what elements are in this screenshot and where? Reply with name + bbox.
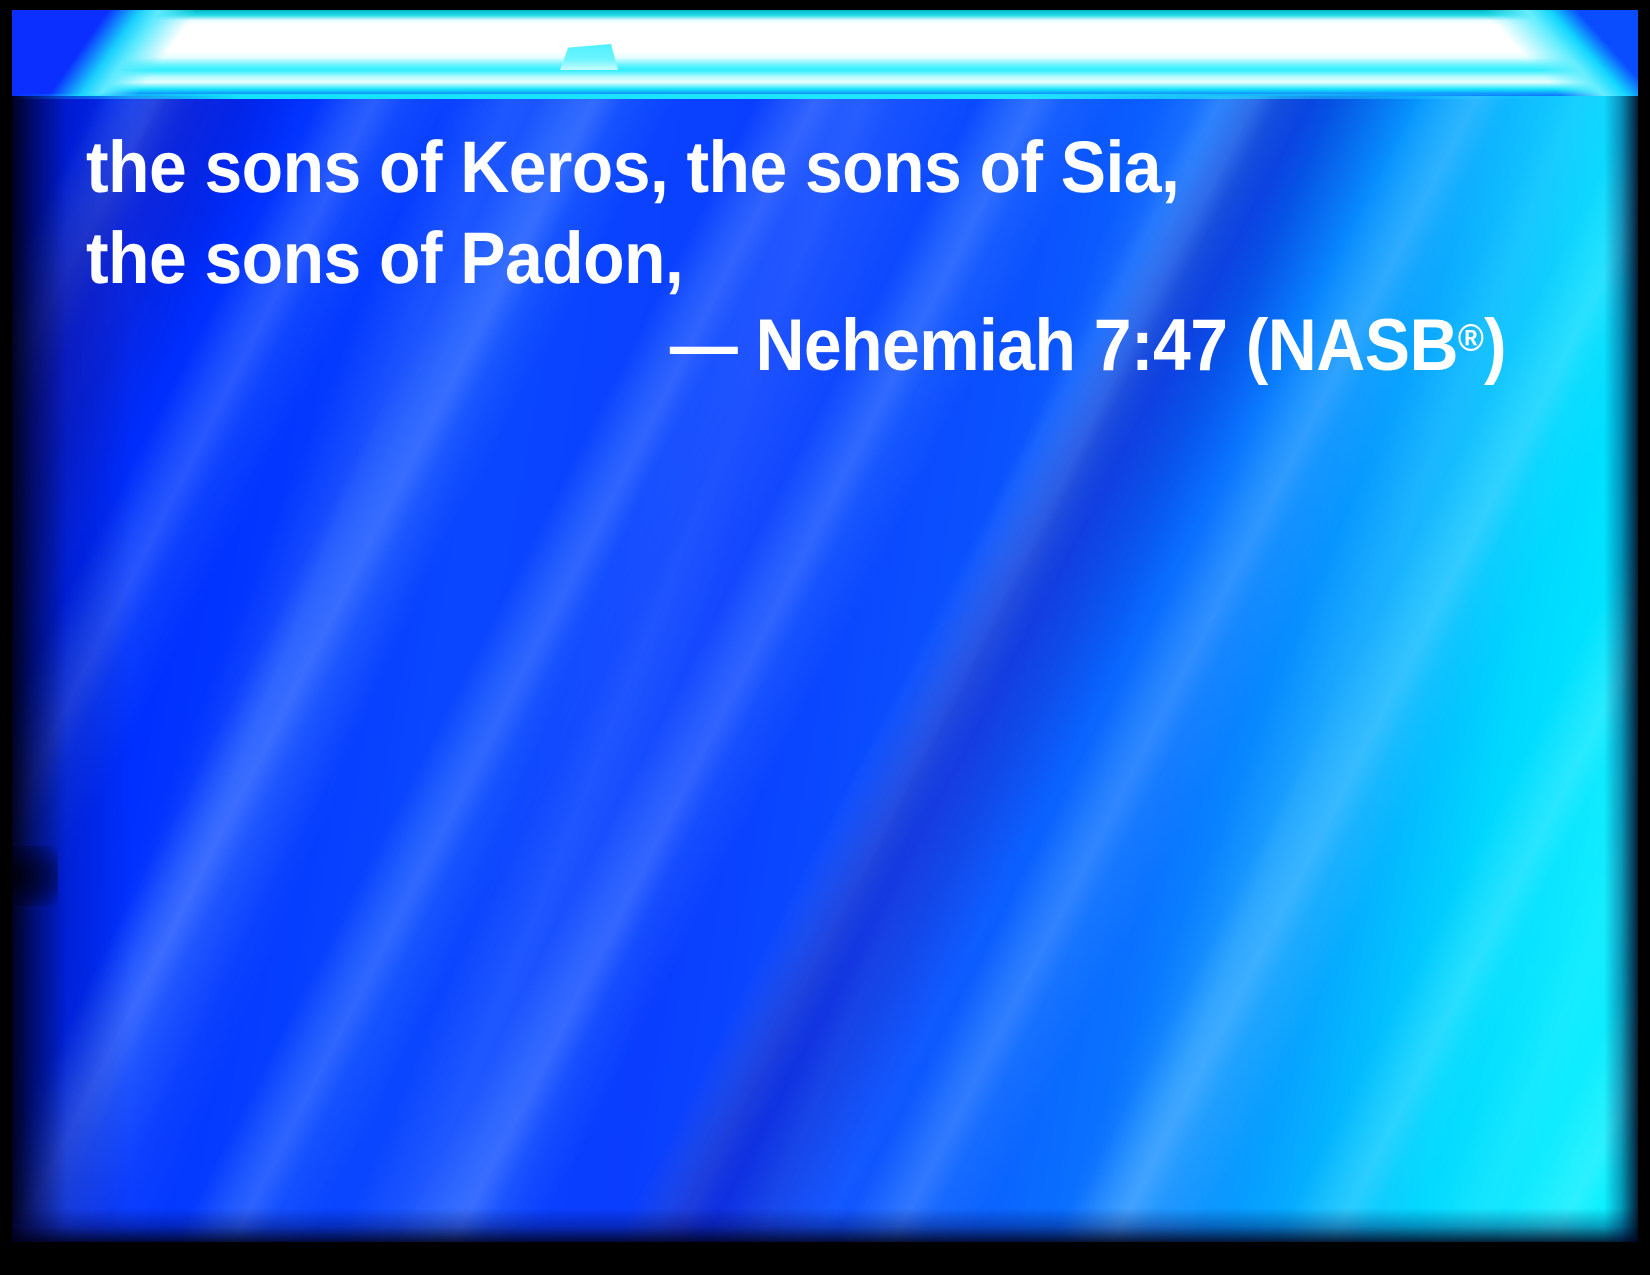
attribution-translation-close: ) — [1484, 305, 1506, 386]
attribution-book: Nehemiah — [755, 305, 1075, 386]
registered-trademark-icon: ® — [1458, 317, 1484, 359]
attribution-spacer2 — [1075, 305, 1093, 386]
attribution-spacer1 — [737, 305, 755, 386]
attribution-spacer3 — [1227, 305, 1245, 386]
attribution-dash: — — [670, 305, 737, 386]
text-layer: the sons of Keros, the sons of Sia, the … — [12, 10, 1638, 1242]
slide-artwork-panel: the sons of Keros, the sons of Sia, the … — [12, 10, 1638, 1242]
attribution-reference: 7:47 — [1094, 305, 1228, 386]
attribution-translation-open: (NASB — [1246, 305, 1458, 386]
slide-canvas: the sons of Keros, the sons of Sia, the … — [0, 0, 1650, 1275]
verse-text: the sons of Keros, the sons of Sia, the … — [86, 122, 1286, 305]
verse-attribution: — Nehemiah 7:47 (NASB®) — [185, 300, 1506, 391]
